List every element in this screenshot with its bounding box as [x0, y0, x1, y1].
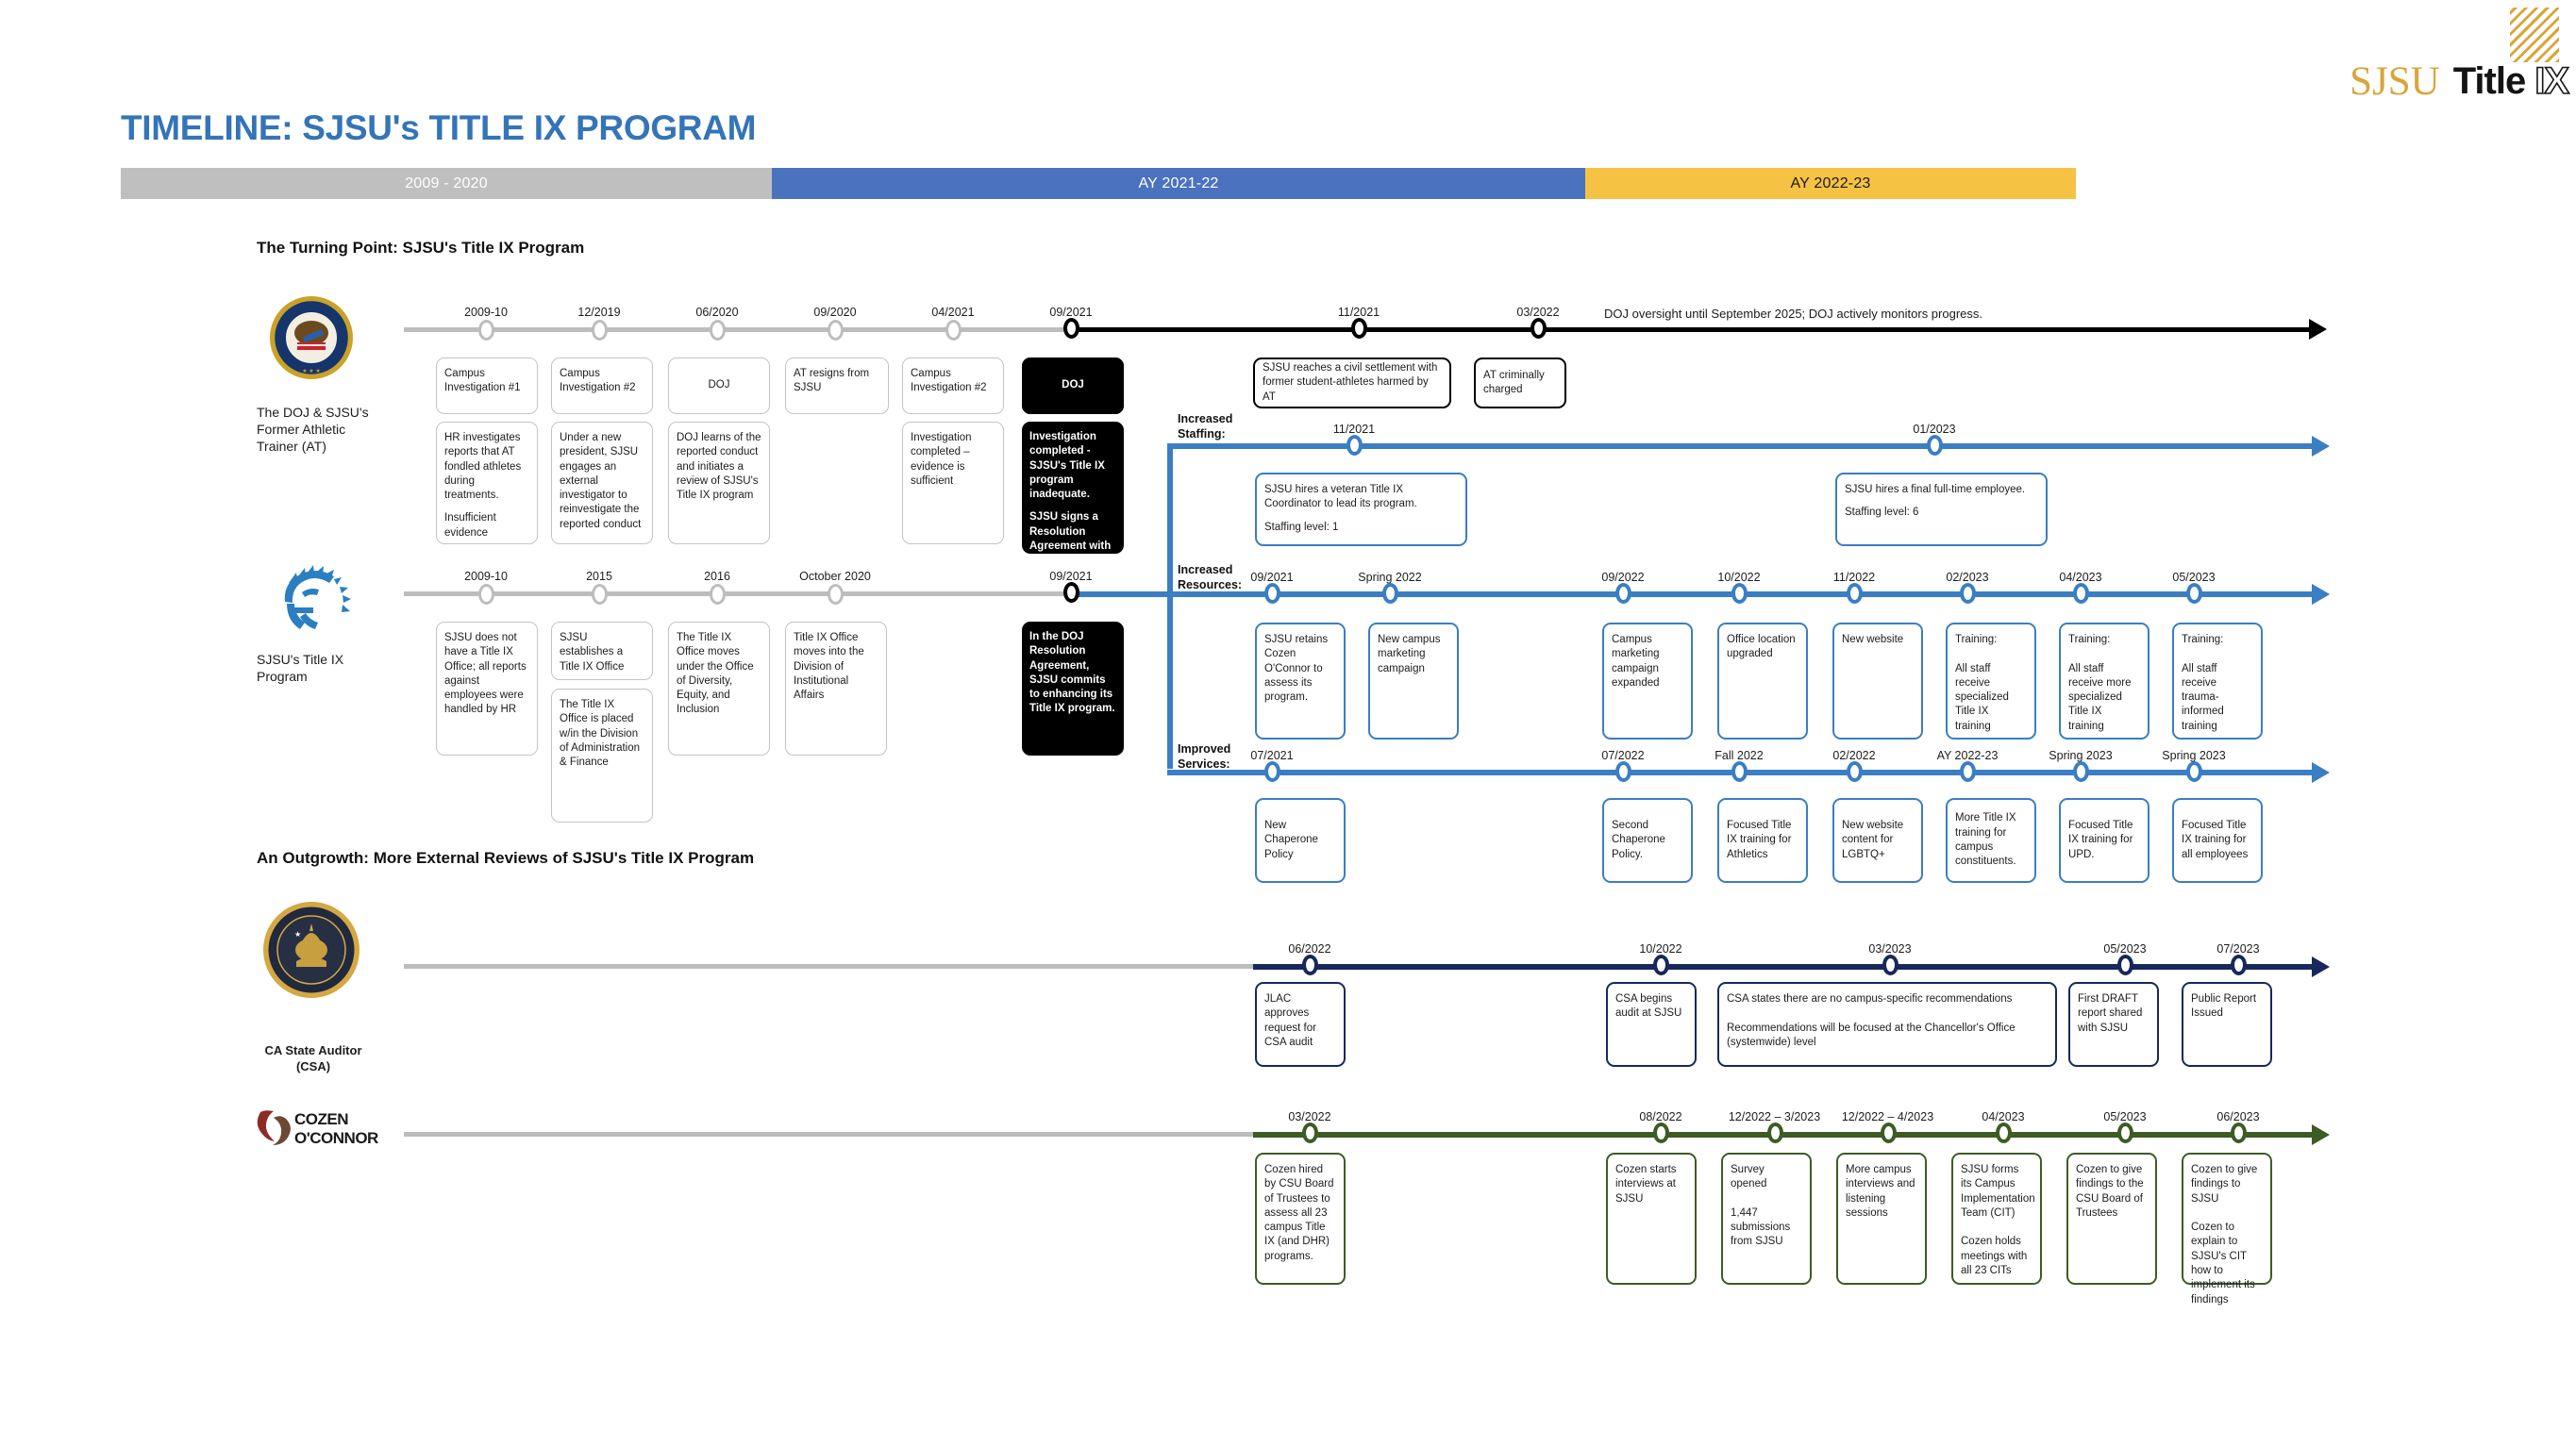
cozen-card-4[interactable]: SJSU forms its Campus Implementation Tea…: [1951, 1153, 2042, 1285]
row-label-sjsu: SJSU's Title IX Program: [257, 651, 389, 685]
staffing-node-1[interactable]: [1927, 435, 1943, 456]
doj-node-2[interactable]: [710, 320, 726, 341]
svg-text:★ ★ ★: ★ ★ ★: [302, 368, 320, 374]
sjsu-card-0[interactable]: SJSU does not have a Title IX Office; al…: [436, 622, 538, 756]
staffing-rail-arrowhead: [2312, 436, 2330, 457]
csa-date-4: 07/2023: [2182, 942, 2295, 956]
services-node-5[interactable]: [2073, 761, 2089, 782]
csa-date-3: 05/2023: [2068, 942, 2182, 956]
csa-node-3[interactable]: [2117, 955, 2133, 975]
staffing-date-1: 01/2023: [1878, 423, 1991, 436]
doj-node-7[interactable]: [1531, 318, 1547, 339]
logo-title-text: Title: [2453, 60, 2526, 103]
services-date-5: Spring 2023: [2024, 749, 2137, 762]
doj-node-0[interactable]: [478, 320, 494, 341]
doj-card-bottom-1[interactable]: Under a new president, SJSU engages an e…: [551, 422, 653, 544]
sjsu-date-0: 2009-10: [429, 570, 543, 583]
services-card-3[interactable]: New website content for LGBTQ+: [1832, 798, 1923, 883]
doj-card-bottom-4[interactable]: Investigation completed – evidence is su…: [902, 422, 1004, 544]
sjsu-date-1: 2015: [543, 570, 656, 583]
cozen-card-0[interactable]: Cozen hired by CSU Board of Trustees to …: [1255, 1153, 1346, 1285]
sjsu-spartan-icon: [272, 564, 353, 641]
resources-card-1[interactable]: New campus marketing campaign: [1368, 623, 1459, 740]
services-node-1[interactable]: [1615, 761, 1631, 782]
page-title: TIMELINE: SJSU's TITLE IX PROGRAM: [121, 108, 756, 148]
doj-node-1[interactable]: [592, 320, 608, 341]
sjsu-date-2: 2016: [661, 570, 774, 583]
csa-date-2: 03/2023: [1833, 942, 1947, 956]
staffing-card-0-body: SJSU hires a veteran Title IX Coordinato…: [1264, 483, 1458, 512]
cozen-node-2[interactable]: [1767, 1123, 1783, 1143]
resources-node-5[interactable]: [1960, 583, 1976, 604]
csa-card-4[interactable]: Public Report Issued: [2182, 982, 2272, 1067]
staffing-card-0-meta: Staffing level: 1: [1264, 521, 1458, 535]
doj-rail-arrowhead: [2309, 319, 2327, 340]
doj-card-bottom-0[interactable]: HR investigates reports that AT fondled …: [436, 422, 538, 544]
cozen-date-2: 12/2022 – 3/2023: [1711, 1110, 1838, 1123]
resources-rail-arrowhead: [2312, 584, 2330, 605]
sjsu-card-2[interactable]: The Title IX Office moves under the Offi…: [668, 622, 770, 756]
logo-sjsu-text: SJSU: [2350, 58, 2440, 105]
cozen-node-5[interactable]: [2117, 1123, 2133, 1143]
resources-date-7: 05/2023: [2137, 571, 2250, 584]
doj-black-line1: Investigation completed - SJSU's Title I…: [1029, 430, 1116, 502]
doj-card-bottom-0-text: HR investigates reports that AT fondled …: [444, 431, 529, 503]
cozen-rail-arrowhead: [2312, 1124, 2330, 1145]
blue-bracket-spine: [1167, 443, 1173, 769]
csa-rail-navy: [1253, 964, 2312, 970]
cozen-date-1: 08/2022: [1604, 1110, 1717, 1123]
doj-card-black[interactable]: Investigation completed - SJSU's Title I…: [1022, 422, 1124, 554]
csa-rail-arrowhead: [2312, 956, 2330, 977]
cozen-card-6[interactable]: Cozen to give findings to SJSU Cozen to …: [2182, 1153, 2272, 1285]
resources-date-3: 10/2022: [1682, 571, 1796, 584]
csa-card-2[interactable]: CSA states there are no campus-specific …: [1717, 982, 2057, 1067]
row-label-doj: The DOJ & SJSU's Former Athletic Trainer…: [257, 404, 389, 456]
staffing-rail: [1167, 443, 2312, 449]
staffing-node-0[interactable]: [1347, 435, 1363, 456]
svg-text:★: ★: [294, 930, 301, 939]
sjsu-node-3[interactable]: [828, 584, 844, 605]
cozen-node-1[interactable]: [1653, 1123, 1669, 1143]
cozen-node-3[interactable]: [1881, 1123, 1897, 1143]
staffing-card-1[interactable]: SJSU hires a final full-time employee. S…: [1835, 473, 2048, 546]
doj-card-bottom-2[interactable]: DOJ learns of the reported conduct and i…: [668, 422, 770, 544]
phase-bar: 2009 - 2020 AY 2021-22 AY 2022-23: [121, 168, 2076, 199]
doj-date-7: 03/2022: [1481, 306, 1595, 319]
services-card-0[interactable]: New Chaperone Policy: [1255, 798, 1346, 883]
sjsu-rail-gray: [404, 591, 1075, 596]
services-card-6[interactable]: Focused Title IX training for all employ…: [2172, 798, 2263, 883]
cozen-card-3[interactable]: More campus interviews and listening ses…: [1836, 1153, 1927, 1285]
resources-node-0[interactable]: [1264, 583, 1280, 604]
cozen-card-5[interactable]: Cozen to give findings to the CSU Board …: [2066, 1153, 2157, 1285]
resources-date-4: 11/2022: [1798, 571, 1911, 584]
services-date-0: 07/2021: [1215, 749, 1329, 762]
doj-date-4: 04/2021: [896, 306, 1010, 319]
services-date-3: 02/2022: [1798, 749, 1911, 762]
section-heading-outgrowth: An Outgrowth: More External Reviews of S…: [257, 849, 754, 868]
cozen-date-6: 06/2023: [2182, 1110, 2295, 1123]
doj-date-6: 11/2021: [1302, 306, 1415, 319]
services-node-6[interactable]: [2186, 761, 2202, 782]
resources-date-5: 02/2023: [1911, 571, 2024, 584]
resources-card-3[interactable]: Office location upgraded: [1717, 623, 1808, 740]
cozen-date-5: 05/2023: [2068, 1110, 2182, 1123]
doj-card-top-5-dup: DOJ: [1022, 358, 1124, 414]
row-label-csa: CA State Auditor (CSA): [247, 1043, 379, 1075]
ca-auditor-seal-icon: ★: [262, 901, 361, 1000]
cozen-card-1[interactable]: Cozen starts interviews at SJSU: [1606, 1153, 1697, 1285]
resources-node-3[interactable]: [1731, 583, 1748, 604]
csa-card-3[interactable]: First DRAFT report shared with SJSU: [2068, 982, 2159, 1067]
csa-rail-gray: [404, 964, 1253, 969]
doj-black-line2: SJSU signs a Resolution Agreement with t…: [1029, 510, 1116, 568]
sjsu-title-ix-logo: SJSU Title IX: [2350, 57, 2568, 106]
sjsu-card-black[interactable]: In the DOJ Resolution Agreement, SJSU co…: [1022, 622, 1124, 756]
doj-card-top-0[interactable]: Campus Investigation #1: [436, 358, 538, 414]
services-date-2: Fall 2022: [1682, 749, 1796, 762]
doj-node-3[interactable]: [828, 320, 844, 341]
doj-date-5: 09/2021: [1014, 306, 1128, 319]
staffing-card-1-body: SJSU hires a final full-time employee.: [1845, 483, 2038, 497]
resources-card-7[interactable]: Training: All staff receive trauma-infor…: [2172, 623, 2263, 740]
cozen-node-6[interactable]: [2231, 1123, 2247, 1143]
csa-node-4[interactable]: [2231, 955, 2247, 975]
services-card-4[interactable]: More Title IX training for campus consti…: [1946, 798, 2036, 883]
section-heading-turning-point: The Turning Point: SJSU's Title IX Progr…: [257, 239, 584, 258]
doj-card-top-7[interactable]: AT criminally charged: [1474, 358, 1566, 408]
cozen-rail-gray: [404, 1132, 1253, 1137]
resources-card-6[interactable]: Training: All staff receive more special…: [2059, 623, 2149, 740]
csa-node-0[interactable]: [1302, 955, 1318, 975]
resources-card-0[interactable]: SJSU retains Cozen O'Connor to assess it…: [1255, 623, 1346, 740]
doj-oversight-note: DOJ oversight until September 2025; DOJ …: [1604, 307, 1982, 321]
services-node-4[interactable]: [1960, 761, 1976, 782]
doj-date-0: 2009-10: [429, 306, 543, 319]
sjsu-node-4[interactable]: [1063, 582, 1079, 603]
services-node-0[interactable]: [1264, 761, 1280, 782]
doj-rail-gray: [404, 327, 1075, 332]
sjsu-card-1[interactable]: SJSU establishes a Title IX Office: [551, 622, 653, 680]
sjsu-node-1[interactable]: [592, 584, 608, 605]
sjsu-card-3[interactable]: Title IX Office moves into the Division …: [785, 622, 887, 756]
staffing-card-0[interactable]: SJSU hires a veteran Title IX Coordinato…: [1255, 473, 1467, 546]
doj-date-1: 12/2019: [543, 306, 656, 319]
phase-segment-ay-2022-23: AY 2022-23: [1585, 168, 2076, 199]
resources-card-4[interactable]: New website: [1832, 623, 1923, 740]
services-node-3[interactable]: [1847, 761, 1863, 782]
doj-card-top-1[interactable]: Campus Investigation #2: [551, 358, 653, 414]
services-date-4: AY 2022-23: [1911, 749, 2024, 762]
resources-date-2: 09/2022: [1566, 571, 1680, 584]
resources-node-1[interactable]: [1382, 583, 1398, 604]
cozen-oconnor-logo: COZEN O'CONNOR: [255, 1106, 434, 1150]
services-date-6: Spring 2023: [2137, 749, 2250, 762]
svg-text:COZEN: COZEN: [294, 1110, 348, 1128]
svg-text:O'CONNOR: O'CONNOR: [294, 1129, 378, 1147]
resources-node-4[interactable]: [1847, 583, 1863, 604]
resources-date-0: 09/2021: [1215, 571, 1329, 584]
doj-date-3: 09/2020: [778, 306, 892, 319]
cozen-date-0: 03/2022: [1253, 1110, 1366, 1123]
doj-card-top-3[interactable]: AT resigns from SJSU: [785, 358, 889, 414]
phase-segment-2009-2020: 2009 - 2020: [121, 168, 772, 199]
doj-card-bottom-0-extra: Insufficient evidence: [444, 511, 529, 541]
cozen-node-4[interactable]: [1996, 1123, 2012, 1143]
phase-segment-ay-2021-22: AY 2021-22: [772, 168, 1585, 199]
doj-rail-black: [1075, 327, 2309, 332]
doj-node-5[interactable]: [1063, 318, 1079, 339]
csa-card-1[interactable]: CSA begins audit at SJSU: [1606, 982, 1697, 1067]
blue-bracket-stem: [1124, 591, 1171, 597]
services-card-1[interactable]: Second Chaperone Policy.: [1602, 798, 1693, 883]
csa-node-2[interactable]: [1882, 955, 1899, 975]
services-node-2[interactable]: [1731, 761, 1748, 782]
resources-node-6[interactable]: [2073, 583, 2089, 604]
cozen-node-0[interactable]: [1302, 1123, 1318, 1143]
csa-node-1[interactable]: [1653, 955, 1669, 975]
sjsu-card-1b[interactable]: The Title IX Office is placed w/in the D…: [551, 689, 653, 823]
services-date-1: 07/2022: [1566, 749, 1680, 762]
resources-node-2[interactable]: [1615, 583, 1631, 604]
hatch-decoration: [2510, 8, 2559, 62]
logo-ix-text: IX: [2534, 60, 2568, 103]
csa-date-0: 06/2022: [1253, 942, 1366, 956]
csa-card-0[interactable]: JLAC approves request for CSA audit: [1255, 982, 1346, 1067]
resources-node-7[interactable]: [2186, 583, 2202, 604]
resources-date-1: Spring 2022: [1329, 571, 1451, 584]
doj-node-6[interactable]: [1351, 318, 1367, 339]
doj-card-top-6[interactable]: SJSU reaches a civil settlement with for…: [1253, 358, 1451, 408]
group-label-staffing: Increased Staffing:: [1178, 412, 1272, 441]
staffing-card-1-meta: Staffing level: 6: [1845, 506, 2038, 520]
cozen-date-3: 12/2022 – 4/2023: [1824, 1110, 1951, 1123]
sjsu-node-2[interactable]: [710, 584, 726, 605]
doj-card-top-4[interactable]: Campus Investigation #2: [902, 358, 1004, 414]
doj-card-top-2[interactable]: DOJ: [668, 358, 770, 414]
resources-date-6: 04/2023: [2024, 571, 2137, 584]
resources-card-5[interactable]: Training: All staff receive specialized …: [1946, 623, 2036, 740]
services-rail-arrowhead: [2312, 762, 2330, 783]
sjsu-date-3: October 2020: [776, 570, 895, 583]
sjsu-node-0[interactable]: [478, 584, 494, 605]
services-card-5[interactable]: Focused Title IX training for UPD.: [2059, 798, 2149, 883]
csa-date-1: 10/2022: [1604, 942, 1717, 956]
doj-node-4[interactable]: [945, 320, 962, 341]
cozen-card-2[interactable]: Survey opened 1,447 submissions from SJS…: [1721, 1153, 1812, 1285]
cozen-date-4: 04/2023: [1947, 1110, 2060, 1123]
resources-card-2[interactable]: Campus marketing campaign expanded: [1602, 623, 1693, 740]
staffing-date-0: 11/2021: [1297, 423, 1411, 436]
services-card-2[interactable]: Focused Title IX training for Athletics: [1717, 798, 1808, 883]
sjsu-date-4: 09/2021: [1014, 570, 1128, 583]
doj-seal-icon: ★ ★ ★: [269, 295, 354, 380]
doj-date-2: 06/2020: [661, 306, 774, 319]
